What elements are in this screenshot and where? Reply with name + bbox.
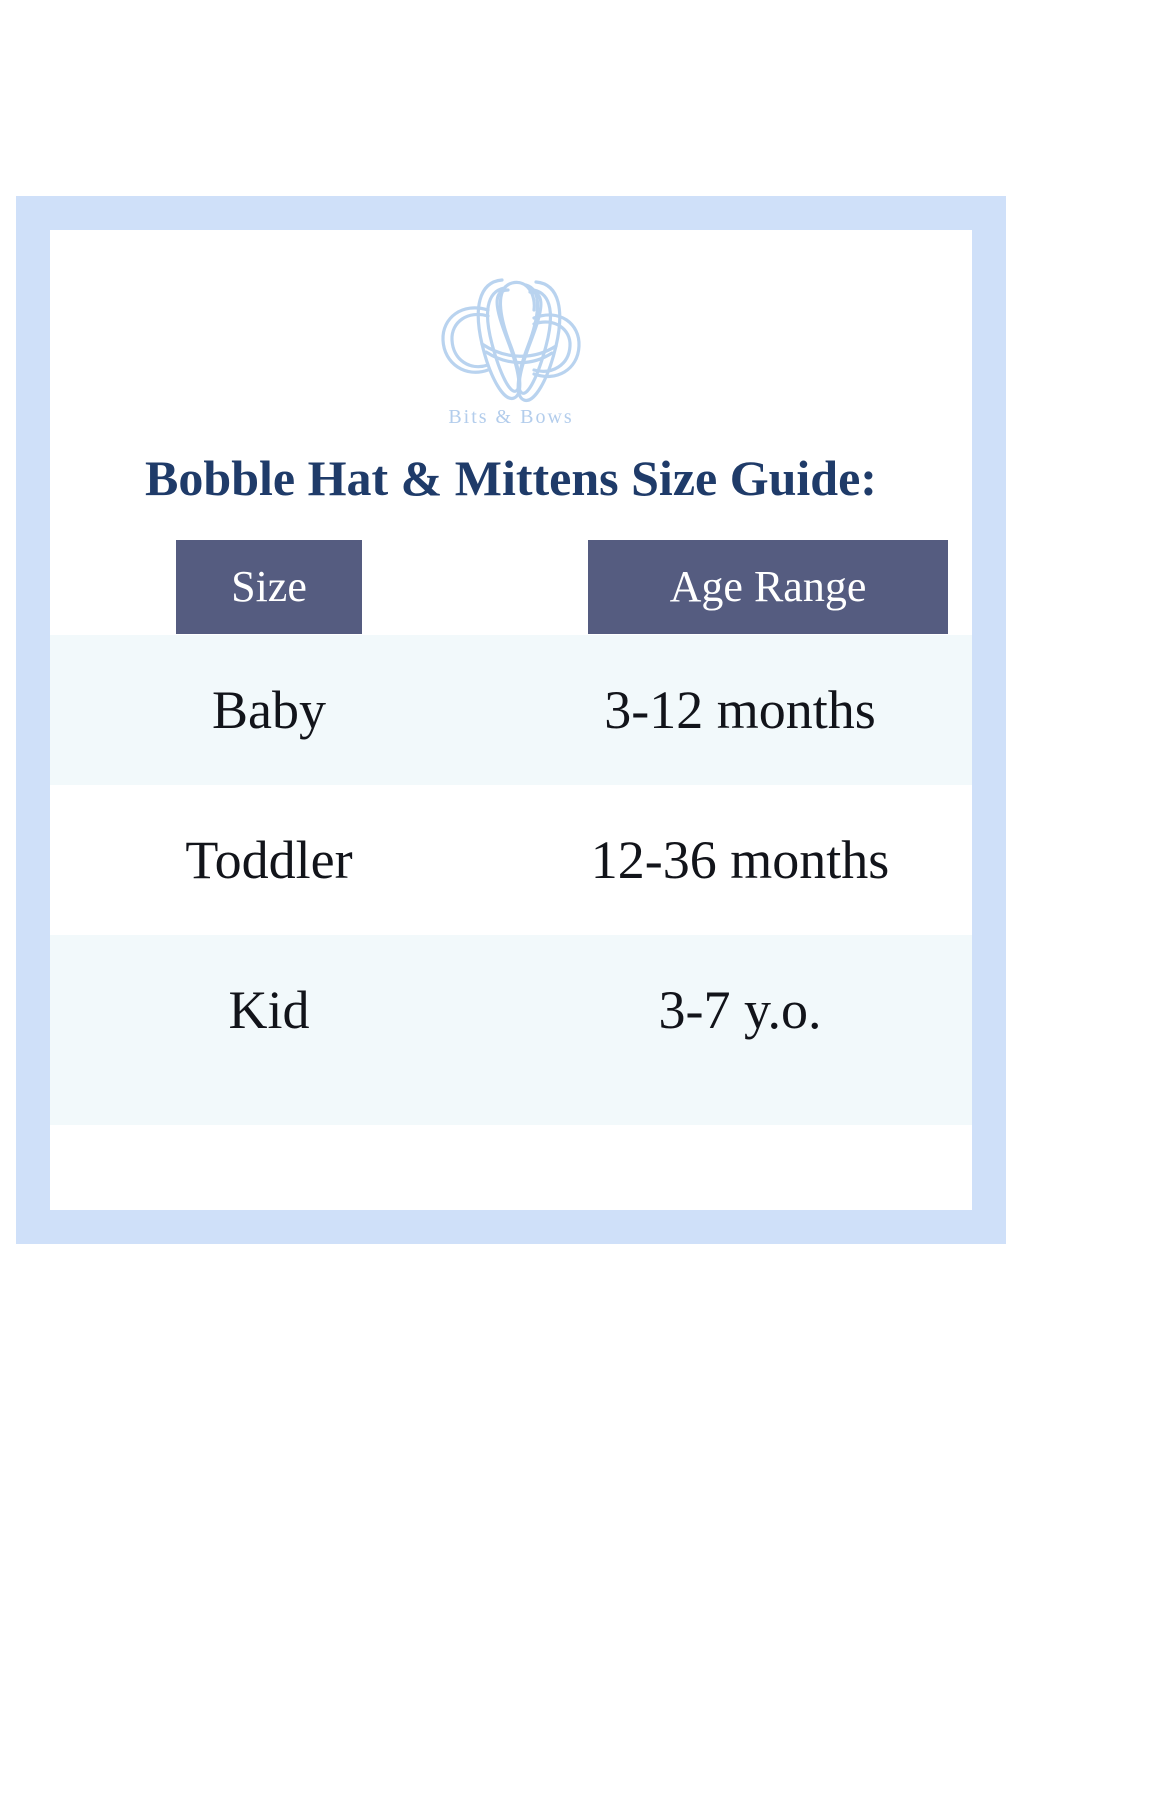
brand-block: Bits & Bows <box>50 230 972 429</box>
column-header-age-range: Age Range <box>588 540 948 634</box>
table-bottom-spacer <box>50 1085 972 1125</box>
cell-size: Baby <box>150 635 388 785</box>
table-row: Toddler 12-36 months <box>50 785 972 935</box>
size-guide-table: Size Age Range Baby 3-12 months Toddler … <box>50 530 972 1125</box>
table-row: Kid 3-7 y.o. <box>50 935 972 1085</box>
size-guide-frame: Bits & Bows Bobble Hat & Mittens Size Gu… <box>16 196 1006 1244</box>
cell-age-range: 12-36 months <box>520 785 960 935</box>
table-header-row: Size Age Range <box>50 530 972 635</box>
cell-age-range: 3-12 months <box>520 635 960 785</box>
cell-age-range: 3-7 y.o. <box>520 935 960 1085</box>
column-header-size: Size <box>176 540 362 634</box>
brand-wordmark: Bits & Bows <box>50 406 972 429</box>
bits-and-bows-monogram-icon <box>416 252 606 412</box>
cell-size: Kid <box>150 935 388 1085</box>
cell-size: Toddler <box>150 785 388 935</box>
size-guide-card: Bits & Bows Bobble Hat & Mittens Size Gu… <box>50 230 972 1210</box>
page-title: Bobble Hat & Mittens Size Guide: <box>50 452 972 505</box>
table-row: Baby 3-12 months <box>50 635 972 785</box>
